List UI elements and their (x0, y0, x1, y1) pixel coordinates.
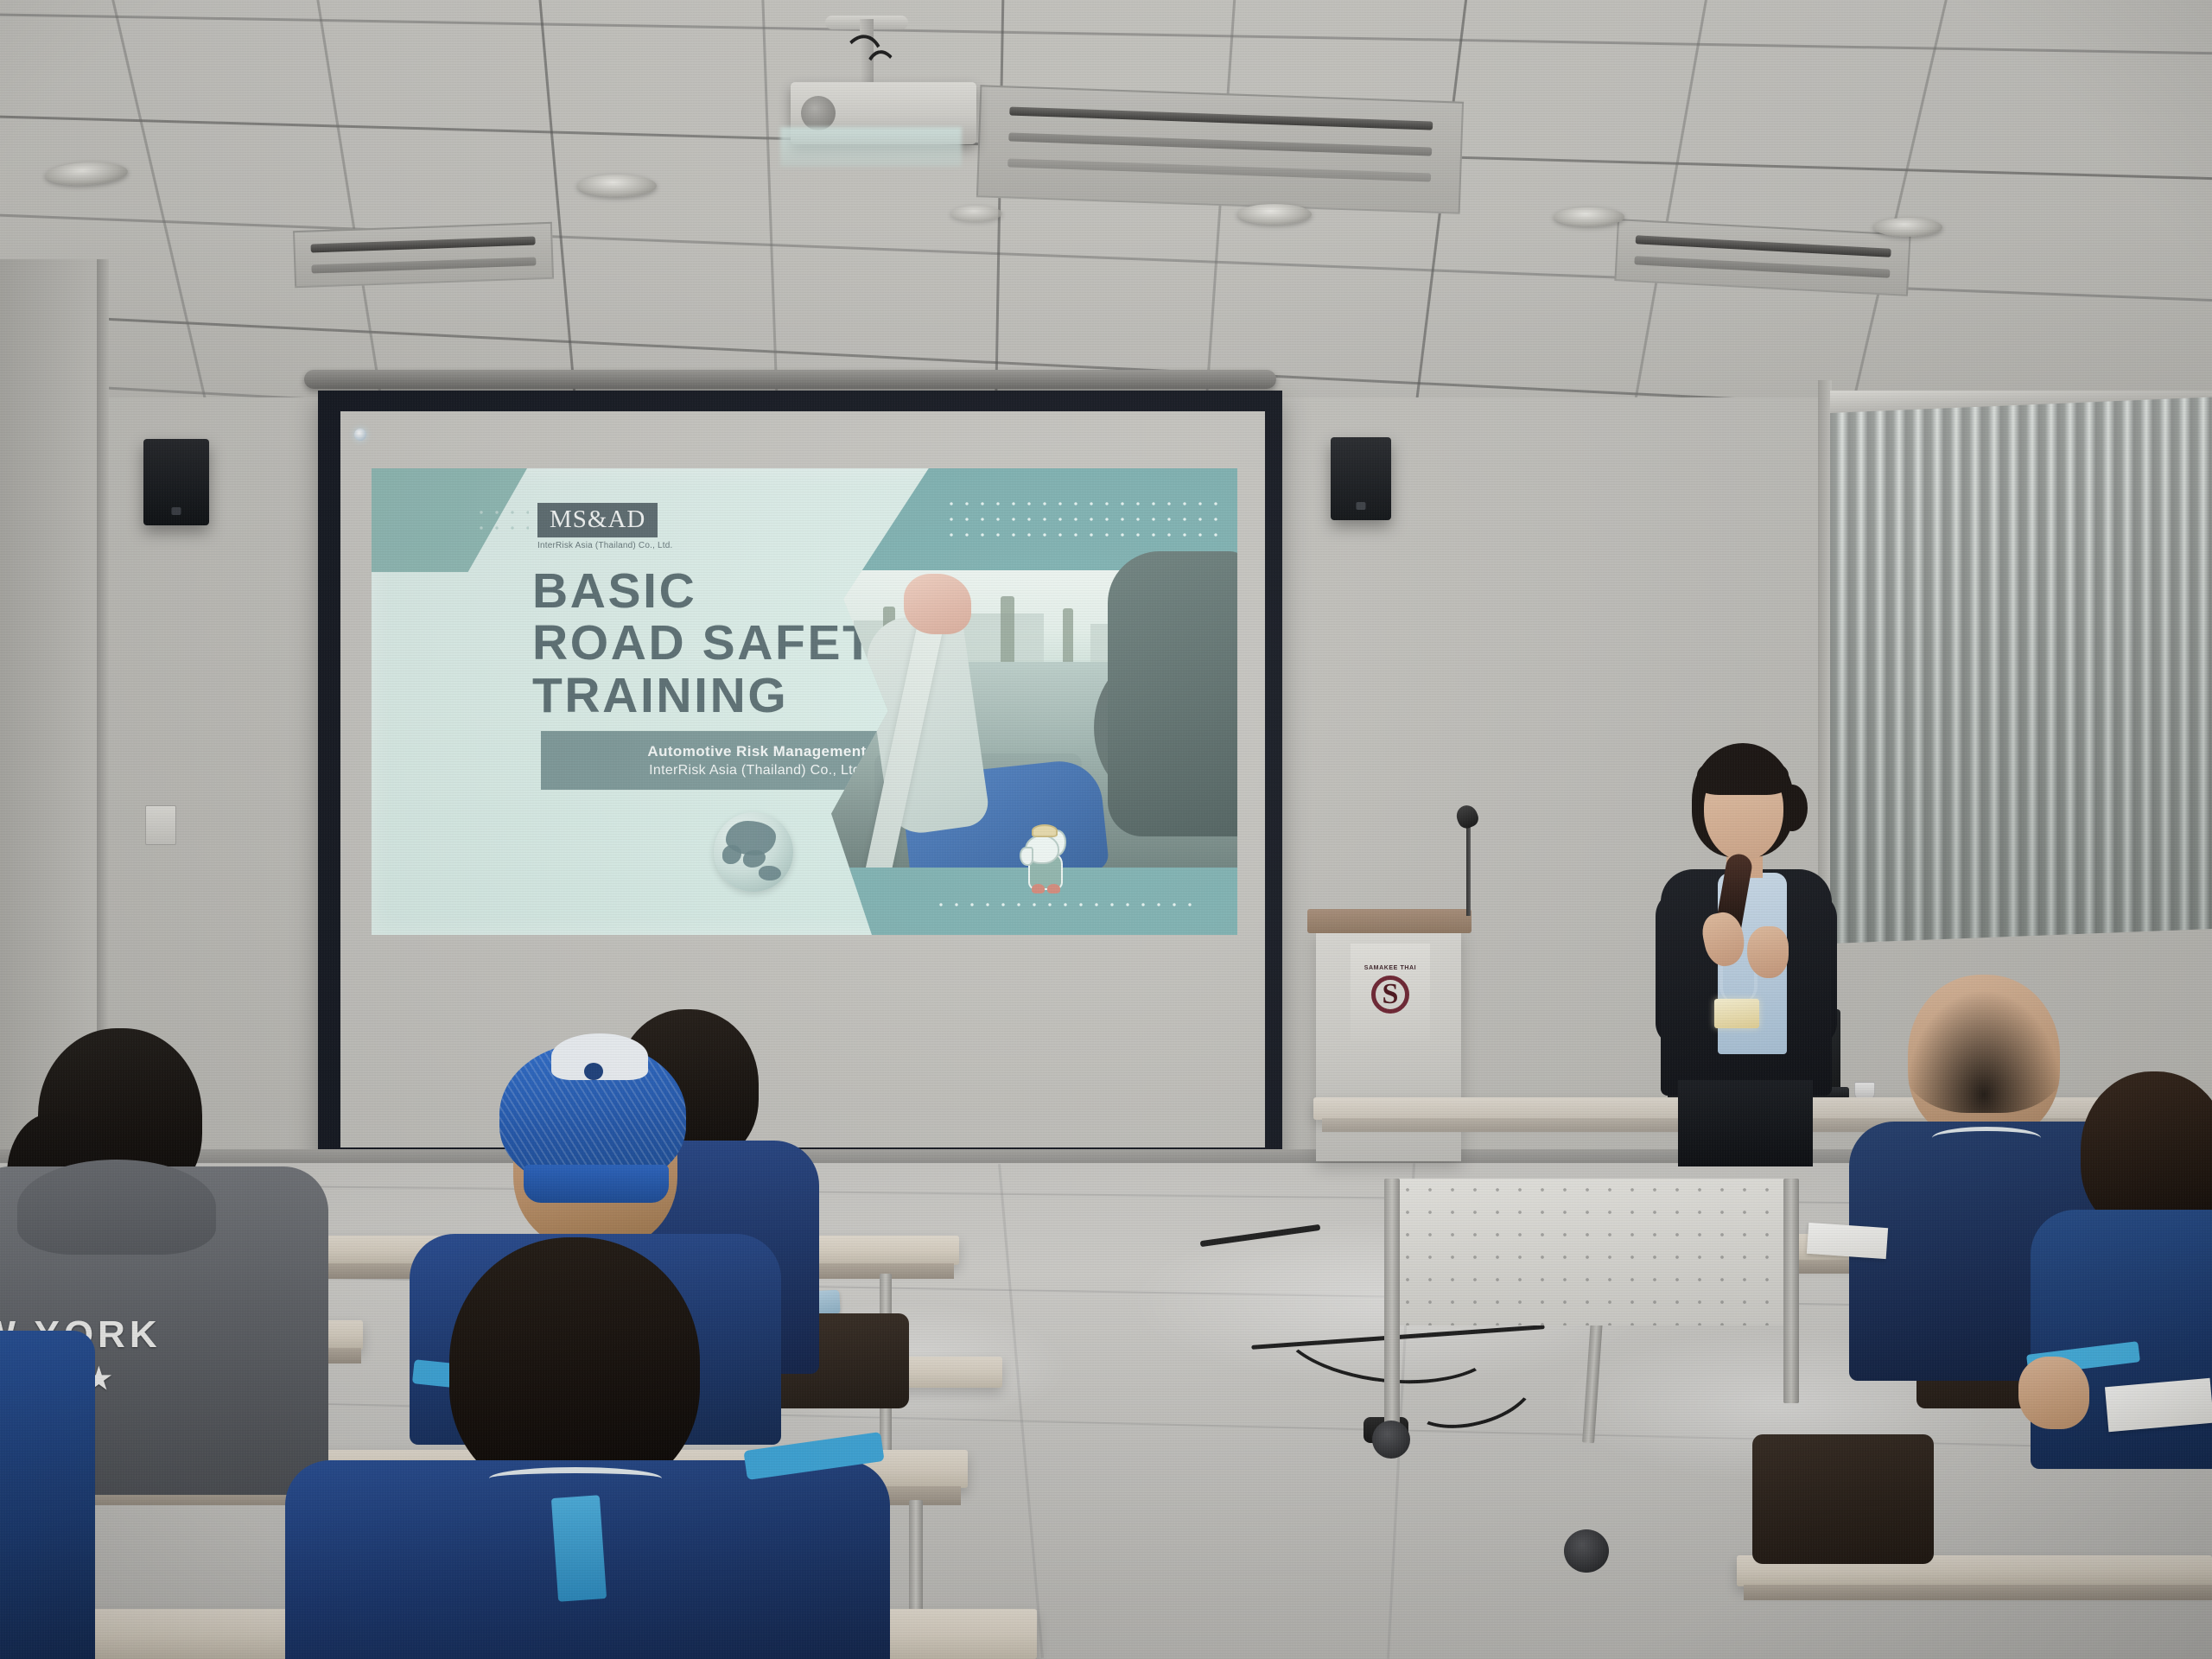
presenter-hand-right (1747, 926, 1789, 978)
slide-dot-pattern (474, 505, 529, 541)
driver-hand (904, 574, 971, 634)
attendee-polo-collar (489, 1467, 662, 1490)
presenter-hair-front (1697, 755, 1789, 795)
hoodie-hood (17, 1160, 216, 1255)
recessed-downlight (1237, 204, 1312, 225)
classroom-photo: MS&AD InterRisk Asia (Thailand) Co., Ltd… (0, 0, 2212, 1659)
slide-title-line-2: ROAD SAFETY (532, 617, 910, 669)
recessed-downlight (1554, 207, 1624, 226)
light-switch-plate[interactable] (145, 805, 176, 845)
attendee-partial-left-edge (0, 1331, 95, 1659)
lectern-logo-plate: SAMAKEE THAI S (1351, 944, 1430, 1040)
presenter-trousers (1678, 1080, 1813, 1166)
wall-speaker-right (1331, 437, 1391, 520)
seal-letter: S (1362, 976, 1419, 1014)
student-desk-edge (1744, 1585, 2212, 1600)
screen-status-led (354, 429, 366, 441)
photo-band-dot-pattern (944, 496, 1229, 546)
lectern-top-surface (1307, 909, 1471, 933)
presenter (1624, 743, 1866, 1158)
globe-icon (714, 812, 793, 892)
projector-light-glow (780, 127, 962, 167)
presentation-slide: MS&AD InterRisk Asia (Thailand) Co., Ltd… (372, 468, 1237, 935)
attendee-lanyard (551, 1495, 607, 1602)
window-with-blinds[interactable] (1830, 391, 2212, 944)
handout-paper (1807, 1223, 1888, 1259)
cap-button (584, 1063, 603, 1080)
desk-panel-leg (1384, 1179, 1400, 1429)
wall-speaker-left (143, 439, 209, 525)
cap-brim (524, 1165, 669, 1203)
microphone-stand (1466, 819, 1471, 916)
seatbelt-photo-panel (831, 468, 1237, 935)
msad-logo-subtext: InterRisk Asia (Thailand) Co., Ltd. (537, 541, 673, 550)
attendee-head (449, 1237, 700, 1497)
chair-back (1752, 1434, 1934, 1564)
ceiling-grille-left (293, 222, 554, 288)
desk-caster-wheel (1564, 1529, 1609, 1573)
suspended-ceiling (0, 0, 2212, 397)
elephant-mascot-icon (1016, 826, 1073, 890)
desk-modesty-panel (1396, 1179, 1799, 1325)
attendee-hand (2018, 1357, 2089, 1429)
car-seat (1108, 551, 1237, 836)
msad-logo-badge: MS&AD (537, 503, 658, 537)
seal-text: SAMAKEE THAI (1362, 965, 1419, 971)
handout-paper (2105, 1378, 2212, 1432)
air-conditioning-vent (976, 85, 1464, 213)
desk-panel-leg (1783, 1179, 1799, 1403)
ceiling-projector (791, 82, 976, 144)
projector-lens (801, 96, 836, 130)
air-conditioning-vent-secondary (1614, 219, 1910, 296)
slide-subtitle-line-2: InterRisk Asia (Thailand) Co., Ltd. (649, 763, 865, 779)
recessed-downlight (950, 206, 1002, 221)
desk-caster-wheel (1372, 1421, 1410, 1459)
recessed-downlight (1873, 218, 1942, 237)
presenter-name-badge (1714, 999, 1759, 1028)
attendee-shirt (0, 1331, 95, 1659)
attendee-polo-collar (1932, 1127, 2041, 1149)
recessed-downlight (44, 161, 128, 188)
photo-bottom-dot-pattern (933, 897, 1192, 916)
recessed-downlight (577, 175, 657, 197)
slide-title-line-3: TRAINING (532, 670, 910, 721)
vertical-blinds[interactable] (1830, 391, 2212, 944)
projection-screen-roller (304, 370, 1276, 389)
organization-seal: SAMAKEE THAI S (1362, 963, 1419, 1020)
slide-subtitle-line-1: Automotive Risk Management (647, 743, 866, 760)
